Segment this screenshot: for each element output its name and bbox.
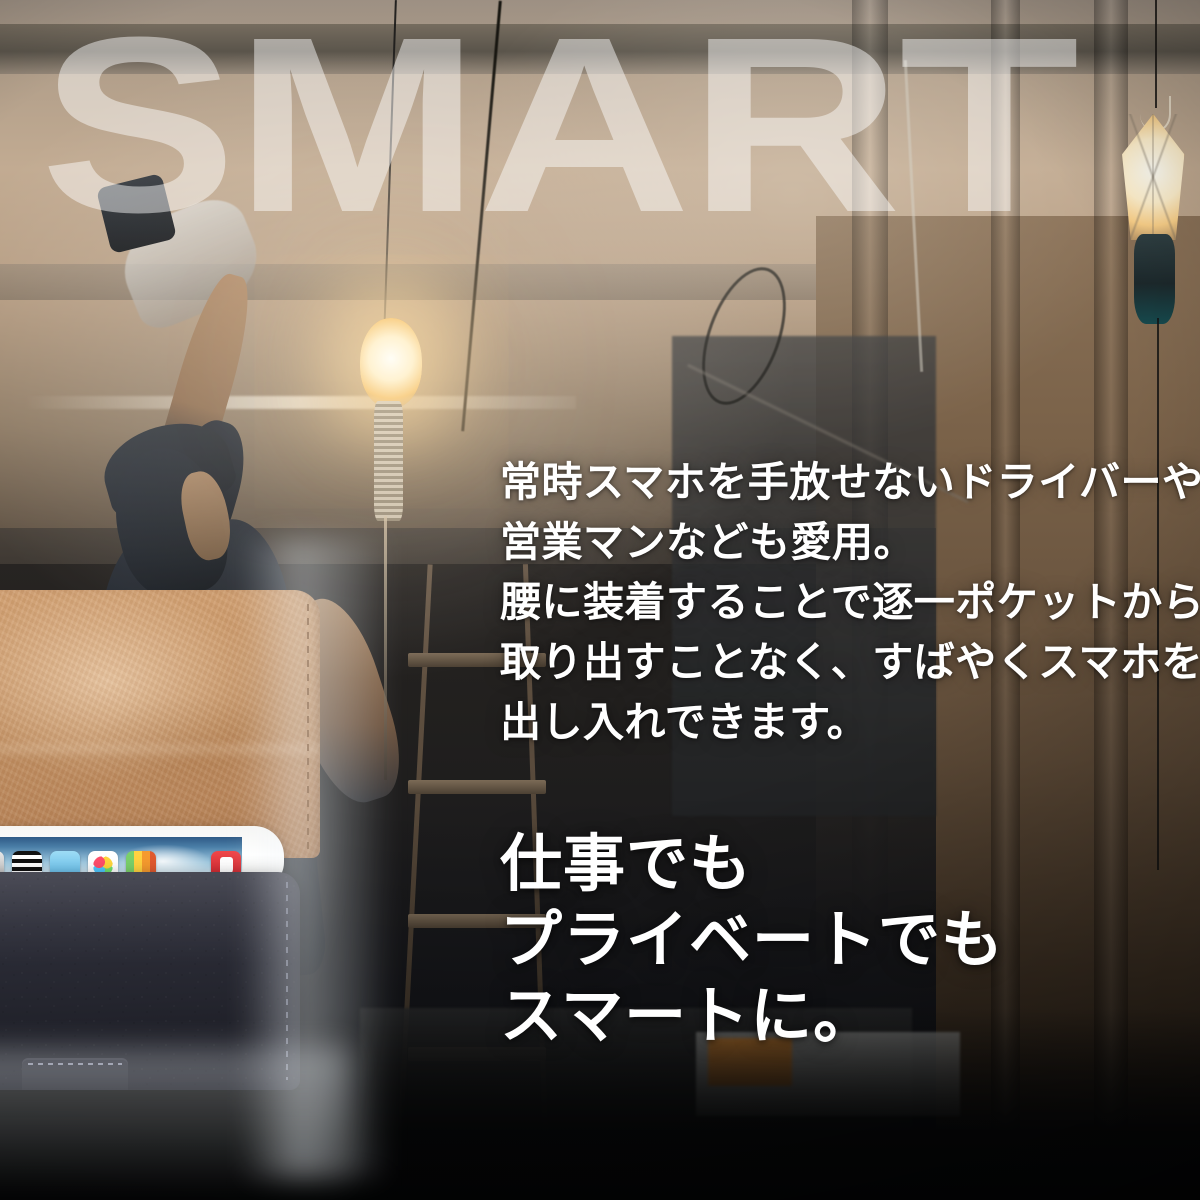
headline-line: 仕事でも <box>500 827 1160 903</box>
stitching-line <box>286 882 288 1080</box>
body-copy-line: 出し入れできます。 <box>500 692 1160 752</box>
body-copy-line: 腰に装着することで逐一ポケットから <box>500 572 1160 632</box>
leather-fold-highlight <box>0 745 320 761</box>
navy-leather-belt-pouch <box>0 872 300 1090</box>
promo-banner: SMART 常時スマホを手放せないドライバーや 営業マンなども愛用。 腰に装着す… <box>0 0 1200 1200</box>
wallpaper-cloud <box>108 841 218 875</box>
leather-sheen <box>0 872 300 964</box>
tan-leather-belt-pouch <box>0 590 320 858</box>
body-copy-line: 常時スマホを手放せないドライバーや <box>500 452 1160 512</box>
leather-grain-texture <box>0 590 320 858</box>
belt-loop-tab <box>22 1058 128 1090</box>
smart-watermark: SMART <box>40 0 1077 257</box>
stitching-line <box>307 604 309 850</box>
body-copy: 常時スマホを手放せないドライバーや 営業マンなども愛用。 腰に装着することで逐一… <box>500 452 1160 752</box>
product-inset <box>0 568 340 1128</box>
headline-line: プライベートでも <box>500 903 1160 979</box>
headline-line: スマートに。 <box>500 979 1160 1055</box>
body-copy-line: 営業マンなども愛用。 <box>500 512 1160 572</box>
body-copy-line: 取り出すことなく、すばやくスマホを <box>500 632 1160 692</box>
headline: 仕事でも プライベートでも スマートに。 <box>500 827 1160 1055</box>
